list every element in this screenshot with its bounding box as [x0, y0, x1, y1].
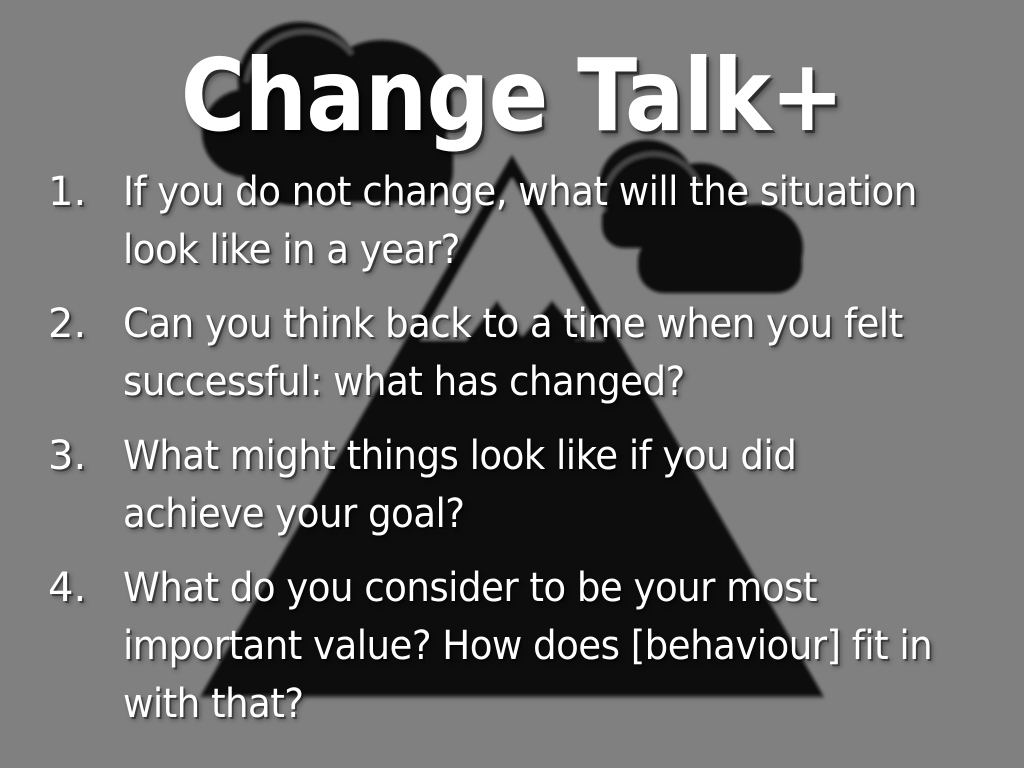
list-item: 4. What do you consider to be your most … [0, 559, 1024, 733]
page-title: Change Talk+ [61, 44, 962, 148]
list-item: 3. What might things look like if you di… [0, 427, 1024, 543]
numbered-question-list: 1. If you do not change, what will the s… [0, 163, 1024, 749]
list-item-text: Can you think back to a time when you fe… [123, 295, 933, 411]
list-item-number: 1. [48, 163, 108, 221]
list-item: 2. Can you think back to a time when you… [0, 295, 1024, 411]
list-item-number: 2. [48, 295, 108, 353]
list-item-text: What might things look like if you did a… [123, 427, 933, 543]
list-item-number: 3. [48, 427, 108, 485]
list-item-text: What do you consider to be your most imp… [123, 559, 933, 733]
list-item-number: 4. [48, 559, 108, 617]
list-item-text: If you do not change, what will the situ… [123, 163, 933, 279]
list-item: 1. If you do not change, what will the s… [0, 163, 1024, 279]
slide-canvas: Change Talk+ 1. If you do not change, wh… [0, 0, 1024, 768]
slide-content: Change Talk+ 1. If you do not change, wh… [0, 0, 1024, 768]
